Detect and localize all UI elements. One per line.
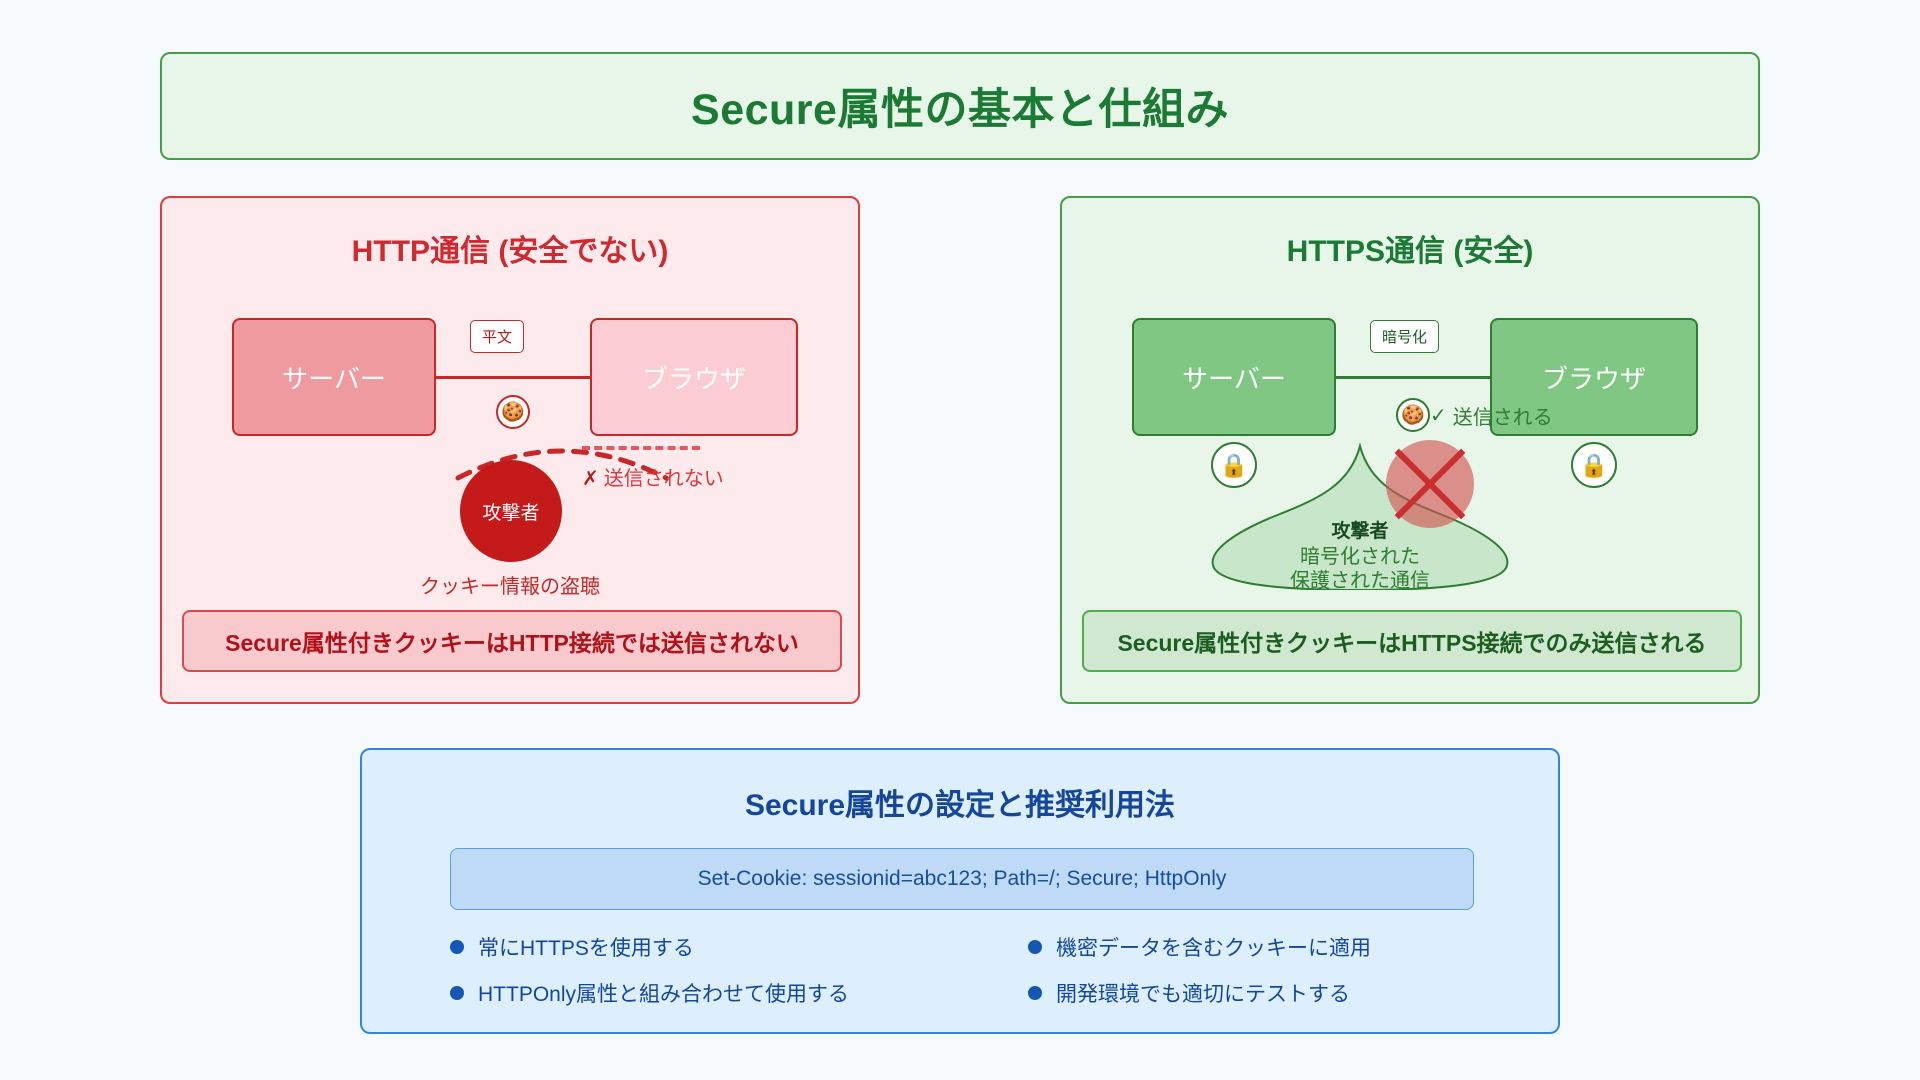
https-panel-title: HTTPS通信 (安全) — [1062, 226, 1758, 270]
bullet-dot-icon — [1028, 940, 1042, 954]
cookie-glyph: 🍪 — [501, 403, 525, 422]
https-callout: Secure属性付きクッキーはHTTPS接続でのみ送信される — [1082, 610, 1742, 672]
list-item-label: 常にHTTPSを使用する — [478, 932, 694, 962]
https-attacker-block-label: 攻撃者 暗号化された 保護された通信 — [1200, 516, 1520, 594]
set-cookie-code-text: Set-Cookie: sessionid=abc123; Path=/; Se… — [698, 867, 1227, 891]
https-sent-annotation: ✓ 送信される — [1430, 401, 1553, 430]
http-panel-title: HTTP通信 (安全でない) — [162, 226, 858, 270]
http-not-sent-label: 送信されない — [604, 468, 724, 490]
http-not-sent-annotation: ✗送信されない — [582, 446, 802, 491]
list-item-label: 開発環境でも適切にテストする — [1056, 978, 1350, 1008]
https-sent-label: 送信される — [1453, 401, 1553, 430]
config-panel-title: Secure属性の設定と推奨利用法 — [362, 780, 1558, 824]
list-item: HTTPOnly属性と組み合わせて使用する — [450, 978, 962, 1008]
https-cloud-line-1: 暗号化された — [1200, 545, 1520, 569]
cookie-icon: 🍪 — [1396, 398, 1430, 432]
http-not-sent-text: ✗送信されない — [582, 462, 802, 491]
diagram-canvas: Secure属性の基本と仕組み HTTP通信 (安全でない) サーバー 平文 ブ… — [0, 0, 1920, 1080]
http-browser-node: ブラウザ — [590, 318, 798, 436]
check-icon: ✓ — [1430, 403, 1447, 428]
cross-icon: ✗ — [582, 468, 599, 490]
https-browser-label: ブラウザ — [1542, 359, 1646, 396]
http-panel: HTTP通信 (安全でない) サーバー 平文 ブラウザ 🍪 攻撃者 ✗送信されな… — [160, 196, 860, 704]
http-callout: Secure属性付きクッキーはHTTP接続では送信されない — [182, 610, 842, 672]
https-wire-label: 暗号化 — [1370, 320, 1439, 353]
list-item-label: 機密データを含むクッキーに適用 — [1056, 932, 1371, 962]
page-title-banner: Secure属性の基本と仕組み — [160, 52, 1760, 160]
http-attacker-node: 攻撃者 — [460, 460, 562, 562]
list-item: 機密データを含むクッキーに適用 — [962, 932, 1474, 962]
recommendation-list: 常にHTTPSを使用する 機密データを含むクッキーに適用 HTTPOnly属性と… — [450, 932, 1474, 1008]
http-server-label: サーバー — [282, 359, 386, 396]
list-item: 常にHTTPSを使用する — [450, 932, 962, 962]
https-cloud-line-2: 保護された通信 — [1200, 569, 1520, 593]
bullet-dot-icon — [450, 986, 464, 1000]
https-server-node: サーバー — [1132, 318, 1336, 436]
dashed-line-icon — [582, 446, 700, 450]
http-server-node: サーバー — [232, 318, 436, 436]
list-item: 開発環境でも適切にテストする — [962, 978, 1474, 1008]
bullet-dot-icon — [1028, 986, 1042, 1000]
https-server-label: サーバー — [1182, 359, 1286, 396]
list-item-label: HTTPOnly属性と組み合わせて使用する — [478, 978, 849, 1008]
http-browser-label: ブラウザ — [642, 359, 746, 396]
https-attacker-label: 攻撃者 — [1200, 516, 1520, 543]
lock-glyph: 🔒 — [1580, 454, 1609, 477]
bullet-dot-icon — [450, 940, 464, 954]
https-connection-line — [1336, 376, 1490, 379]
page-title: Secure属性の基本と仕組み — [691, 75, 1229, 137]
cookie-glyph: 🍪 — [1401, 406, 1425, 425]
http-eavesdrop-caption: クッキー情報の盗聴 — [162, 570, 858, 599]
http-connection-line — [436, 376, 590, 379]
http-attacker-label: 攻撃者 — [482, 498, 539, 525]
set-cookie-code-box: Set-Cookie: sessionid=abc123; Path=/; Se… — [450, 848, 1474, 910]
https-panel: HTTPS通信 (安全) サーバー 暗号化 ブラウザ 🍪 ✓ 送信される 🔒 🔒 — [1060, 196, 1760, 704]
lock-icon: 🔒 — [1571, 442, 1617, 488]
blocked-attacker-icon — [1386, 440, 1474, 528]
cookie-icon: 🍪 — [496, 395, 530, 429]
http-wire-label: 平文 — [470, 320, 524, 353]
config-panel: Secure属性の設定と推奨利用法 Set-Cookie: sessionid=… — [360, 748, 1560, 1034]
